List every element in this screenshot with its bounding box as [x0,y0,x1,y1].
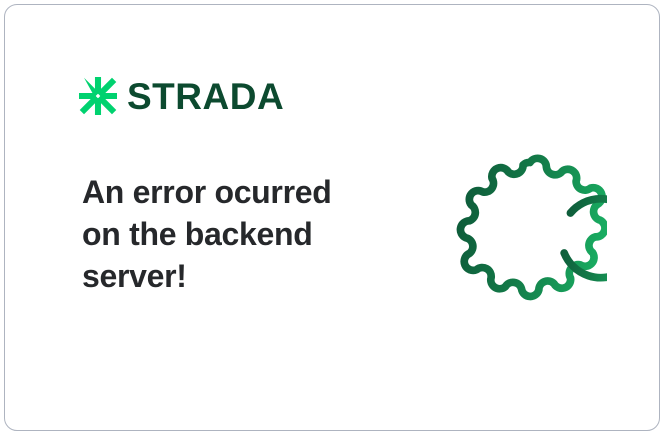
gear-icon [453,146,607,306]
brand-wordmark: STRADA [127,78,284,115]
error-card: STRADA An error ocurred on the backend s… [4,4,660,431]
error-message: An error ocurred on the backend server! [82,171,372,297]
brand-lockup: STRADA [79,73,284,119]
starburst-icon [79,77,117,115]
